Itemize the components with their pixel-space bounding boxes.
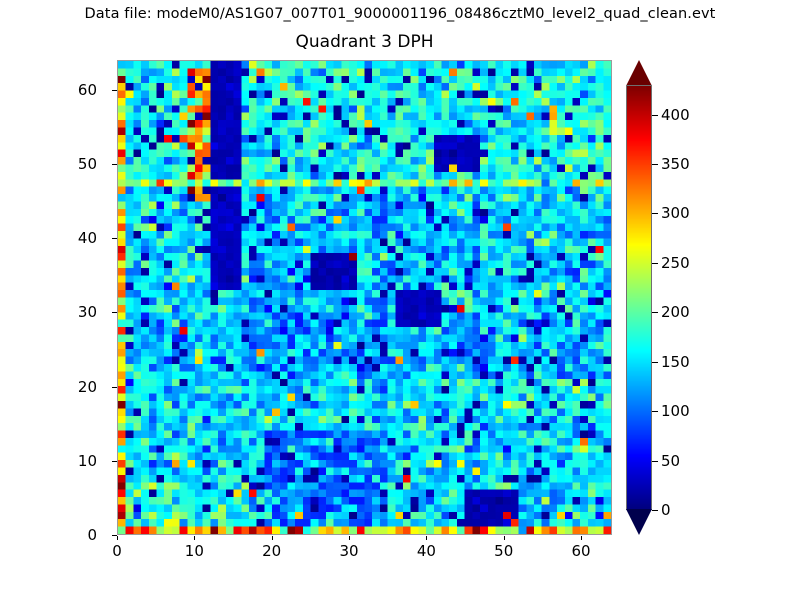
plot-title: Quadrant 3 DPH bbox=[117, 32, 612, 52]
y-tick-mark bbox=[112, 387, 117, 388]
heatmap-image bbox=[118, 61, 611, 534]
y-tick-label: 50 bbox=[78, 155, 97, 173]
x-tick-mark bbox=[426, 536, 427, 540]
colorbar-tick-label: 50 bbox=[661, 452, 680, 470]
x-tick-label: 40 bbox=[417, 542, 436, 560]
colorbar-tick-mark bbox=[652, 362, 658, 363]
x-tick-mark bbox=[194, 536, 195, 540]
colorbar-tick-label: 150 bbox=[661, 353, 690, 371]
colorbar-tick-mark bbox=[652, 213, 658, 214]
colorbar-tick-mark bbox=[652, 312, 658, 313]
colorbar-extend-arrow-up bbox=[626, 60, 652, 86]
y-tick-mark bbox=[112, 238, 117, 239]
heatmap-axes[interactable] bbox=[117, 60, 612, 535]
colorbar-tick-mark bbox=[652, 115, 658, 116]
colorbar-tick-mark bbox=[652, 164, 658, 165]
y-tick-label: 10 bbox=[78, 452, 97, 470]
colorbar-tick-label: 400 bbox=[661, 106, 690, 124]
colorbar-tick-label: 350 bbox=[661, 155, 690, 173]
colorbar-tick-label: 300 bbox=[661, 204, 690, 222]
data-file-label: Data file: modeM0/AS1G07_007T01_90000011… bbox=[0, 6, 800, 22]
x-tick-mark bbox=[504, 536, 505, 540]
colorbar-tick-mark bbox=[652, 461, 658, 462]
x-tick-label: 60 bbox=[572, 542, 591, 560]
x-tick-mark bbox=[581, 536, 582, 540]
colorbar-gradient bbox=[627, 86, 651, 509]
colorbar-tick-mark bbox=[652, 510, 658, 511]
colorbar-body bbox=[626, 85, 652, 510]
y-tick-mark bbox=[112, 164, 117, 165]
y-tick-label: 40 bbox=[78, 229, 97, 247]
y-tick-mark bbox=[112, 461, 117, 462]
y-tick-mark bbox=[112, 312, 117, 313]
colorbar-tick-label: 100 bbox=[661, 402, 690, 420]
x-tick-label: 50 bbox=[494, 542, 513, 560]
y-tick-mark bbox=[112, 535, 117, 536]
colorbar-tick-label: 200 bbox=[661, 303, 690, 321]
colorbar-tick-mark bbox=[652, 263, 658, 264]
x-tick-mark bbox=[117, 536, 118, 540]
colorbar-tick-label: 250 bbox=[661, 254, 690, 272]
x-tick-mark bbox=[272, 536, 273, 540]
x-tick-label: 0 bbox=[112, 542, 122, 560]
y-tick-mark bbox=[112, 90, 117, 91]
colorbar-extend-arrow-down bbox=[626, 509, 652, 535]
x-tick-label: 20 bbox=[262, 542, 281, 560]
y-tick-label: 60 bbox=[78, 81, 97, 99]
colorbar-tick-label: 0 bbox=[661, 501, 671, 519]
colorbar-tick-mark bbox=[652, 411, 658, 412]
y-tick-label: 20 bbox=[78, 378, 97, 396]
colorbar[interactable] bbox=[626, 60, 652, 535]
y-tick-label: 0 bbox=[87, 526, 97, 544]
x-tick-label: 10 bbox=[185, 542, 204, 560]
y-tick-label: 30 bbox=[78, 303, 97, 321]
x-tick-label: 30 bbox=[339, 542, 358, 560]
figure-canvas: Data file: modeM0/AS1G07_007T01_90000011… bbox=[0, 0, 800, 600]
x-tick-mark bbox=[349, 536, 350, 540]
